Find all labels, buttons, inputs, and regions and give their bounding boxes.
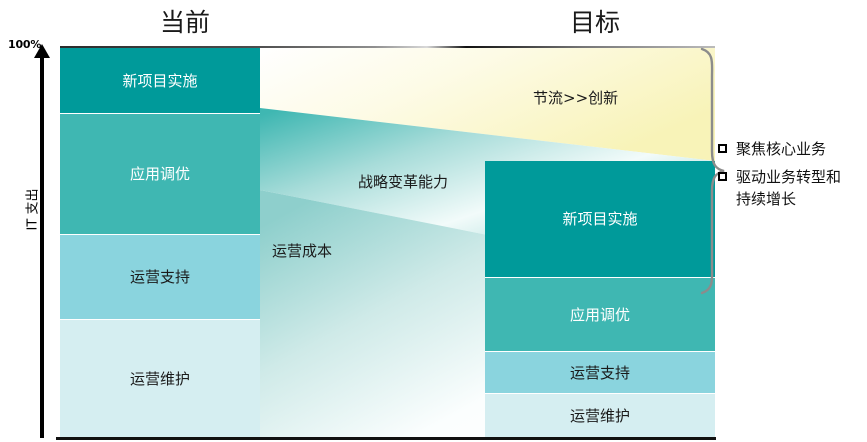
current-bar-ops-maintenance[interactable]: 运营维护 [60,319,260,438]
operating-cost-label: 运营成本 [272,241,332,261]
bar-label: 应用调优 [130,164,190,184]
callout-item-focus-core-business: 聚焦核心业务 [718,138,867,160]
column-title-current: 当前 [90,6,280,40]
bar-label: 新项目实施 [122,71,197,91]
column-title-target: 目标 [500,6,690,40]
square-bullet-icon [718,144,727,153]
callout-text: 驱动业务转型和 [736,168,841,186]
bar-label: 新项目实施 [562,209,637,229]
target-bar-new-projects[interactable]: 新项目实施 [485,161,715,277]
current-bar-new-projects[interactable]: 新项目实施 [60,48,260,113]
innovation-band-shape [260,48,715,161]
square-bullet-icon [718,172,727,181]
strategy-band-label: 战略变革能力 [358,172,448,192]
callout-item-drive-transformation: 驱动业务转型和 持续增长 [718,166,867,210]
callout-list: 聚焦核心业务 驱动业务转型和 持续增长 [718,138,867,216]
target-bar-app-optimization[interactable]: 应用调优 [485,277,715,351]
current-bar-ops-support[interactable]: 运营支持 [60,234,260,319]
target-bar-ops-support[interactable]: 运营支持 [485,351,715,393]
innovation-band-label: 节流>>创新 [533,88,618,108]
callout-text-continuation: 持续增长 [736,188,841,210]
callout-text: 聚焦核心业务 [736,138,826,160]
y-axis-line [40,56,44,438]
bar-label: 运营支持 [130,267,190,287]
mekko-transition-diagram: 当前 目标 100% IT 支出 [0,0,867,442]
y-axis-title: IT 支出 [22,165,41,255]
current-bar-app-optimization[interactable]: 应用调优 [60,113,260,234]
bar-label: 应用调优 [570,305,630,325]
plot-bottom-axis [56,437,716,440]
bar-label: 运营维护 [130,369,190,389]
bar-label: 运营维护 [570,406,630,426]
bar-label: 运营支持 [570,363,630,383]
target-bar-ops-maintenance[interactable]: 运营维护 [485,393,715,438]
